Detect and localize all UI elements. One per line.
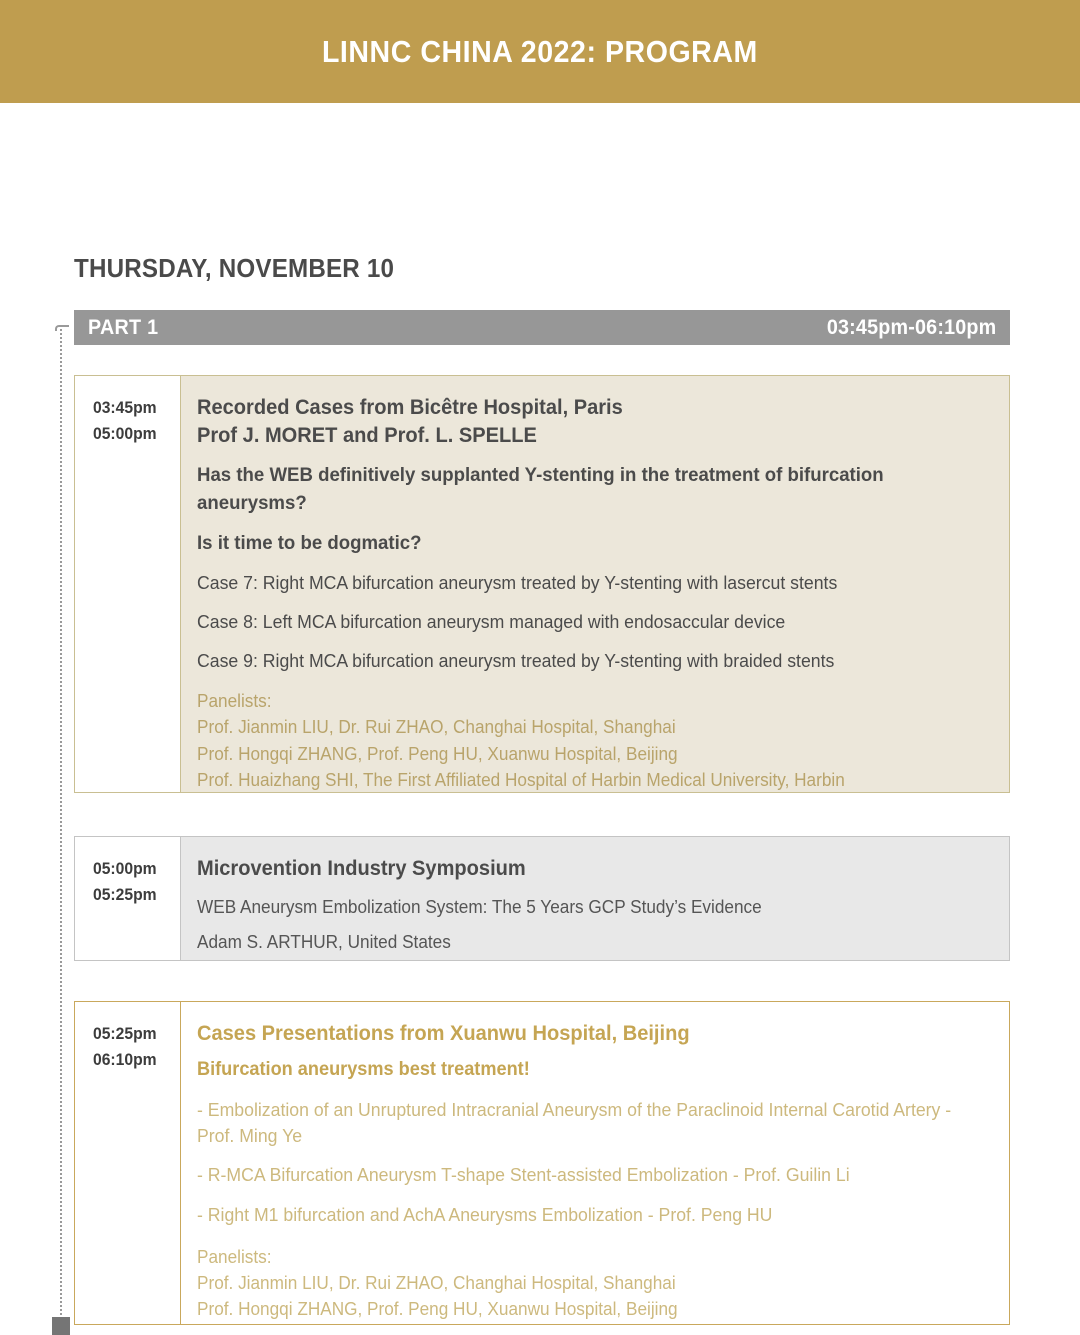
- session-title: Recorded Cases from Bicêtre Hospital, Pa…: [197, 394, 953, 422]
- session-presentation-item: - R-MCA Bifurcation Aneurysm T-shape Ste…: [197, 1162, 953, 1188]
- day-heading: THURSDAY, NOVEMBER 10: [74, 253, 394, 284]
- panelist-line: Prof. Jianmin LIU, Dr. Rui ZHAO, Changha…: [197, 714, 953, 740]
- session-title: Cases Presentations from Xuanwu Hospital…: [197, 1020, 953, 1048]
- page-banner: LINNC CHINA 2022: PROGRAM: [0, 0, 1080, 103]
- timeline-dotted-line: [60, 325, 62, 1320]
- session-case-item: Case 7: Right MCA bifurcation aneurysm t…: [197, 570, 953, 596]
- panelist-line: Prof. Hongqi ZHANG, Prof. Peng HU, Xuanw…: [197, 1296, 953, 1322]
- session-time-column: 05:25pm 06:10pm: [75, 1002, 180, 1324]
- session-detail-line: Adam S. ARTHUR, United States: [197, 929, 953, 956]
- session-question-1: Has the WEB definitively supplanted Y-st…: [197, 462, 953, 517]
- part-header-bar: PART 1 03:45pm-06:10pm: [74, 310, 1010, 345]
- part-label: PART 1: [88, 316, 158, 340]
- session-title: Microvention Industry Symposium: [197, 855, 953, 883]
- timeline-decoration: [55, 325, 69, 1335]
- session-block-xuanwu-cases[interactable]: 05:25pm 06:10pm Cases Presentations from…: [74, 1001, 1010, 1325]
- session-start-time: 05:00pm: [93, 857, 176, 883]
- session-subtitle: Bifurcation aneurysms best treatment!: [197, 1057, 953, 1084]
- session-presentation-item: - Embolization of an Unruptured Intracra…: [197, 1097, 953, 1150]
- panelist-line: Prof. Huaizhang SHI, The First Affiliate…: [197, 767, 953, 793]
- session-end-time: 05:00pm: [93, 422, 176, 448]
- session-content-column: Recorded Cases from Bicêtre Hospital, Pa…: [180, 376, 1009, 792]
- session-case-item: Case 9: Right MCA bifurcation aneurysm t…: [197, 648, 953, 674]
- session-presentation-item: - Right M1 bifurcation and AchA Aneurysm…: [197, 1202, 953, 1228]
- session-speakers: Prof J. MORET and Prof. L. SPELLE: [197, 422, 953, 450]
- session-start-time: 05:25pm: [93, 1022, 176, 1048]
- panelists-label: Panelists:: [197, 1244, 953, 1270]
- session-time-column: 03:45pm 05:00pm: [75, 376, 180, 792]
- session-detail-line: WEB Aneurysm Embolization System: The 5 …: [197, 894, 953, 921]
- timeline-cap-icon: [55, 325, 69, 331]
- timeline-end-marker-icon: [52, 1317, 70, 1335]
- session-start-time: 03:45pm: [93, 396, 176, 422]
- session-question-2: Is it time to be dogmatic?: [197, 530, 953, 558]
- panelist-line: Prof. Hongqi ZHANG, Prof. Peng HU, Xuanw…: [197, 741, 953, 767]
- session-case-item: Case 8: Left MCA bifurcation aneurysm ma…: [197, 609, 953, 635]
- page-title: LINNC CHINA 2022: PROGRAM: [322, 34, 758, 70]
- session-end-time: 06:10pm: [93, 1048, 176, 1074]
- session-block-recorded-cases[interactable]: 03:45pm 05:00pm Recorded Cases from Bicê…: [74, 375, 1010, 793]
- session-time-column: 05:00pm 05:25pm: [75, 837, 180, 960]
- panelists-label: Panelists:: [197, 688, 953, 714]
- session-content-column: Cases Presentations from Xuanwu Hospital…: [180, 1002, 1009, 1324]
- session-block-microvention-symposium[interactable]: 05:00pm 05:25pm Microvention Industry Sy…: [74, 836, 1010, 961]
- session-content-column: Microvention Industry Symposium WEB Aneu…: [180, 837, 1009, 960]
- panelist-line: Prof. Jianmin LIU, Dr. Rui ZHAO, Changha…: [197, 1270, 953, 1296]
- part-time-range: 03:45pm-06:10pm: [826, 316, 996, 340]
- session-end-time: 05:25pm: [93, 883, 176, 909]
